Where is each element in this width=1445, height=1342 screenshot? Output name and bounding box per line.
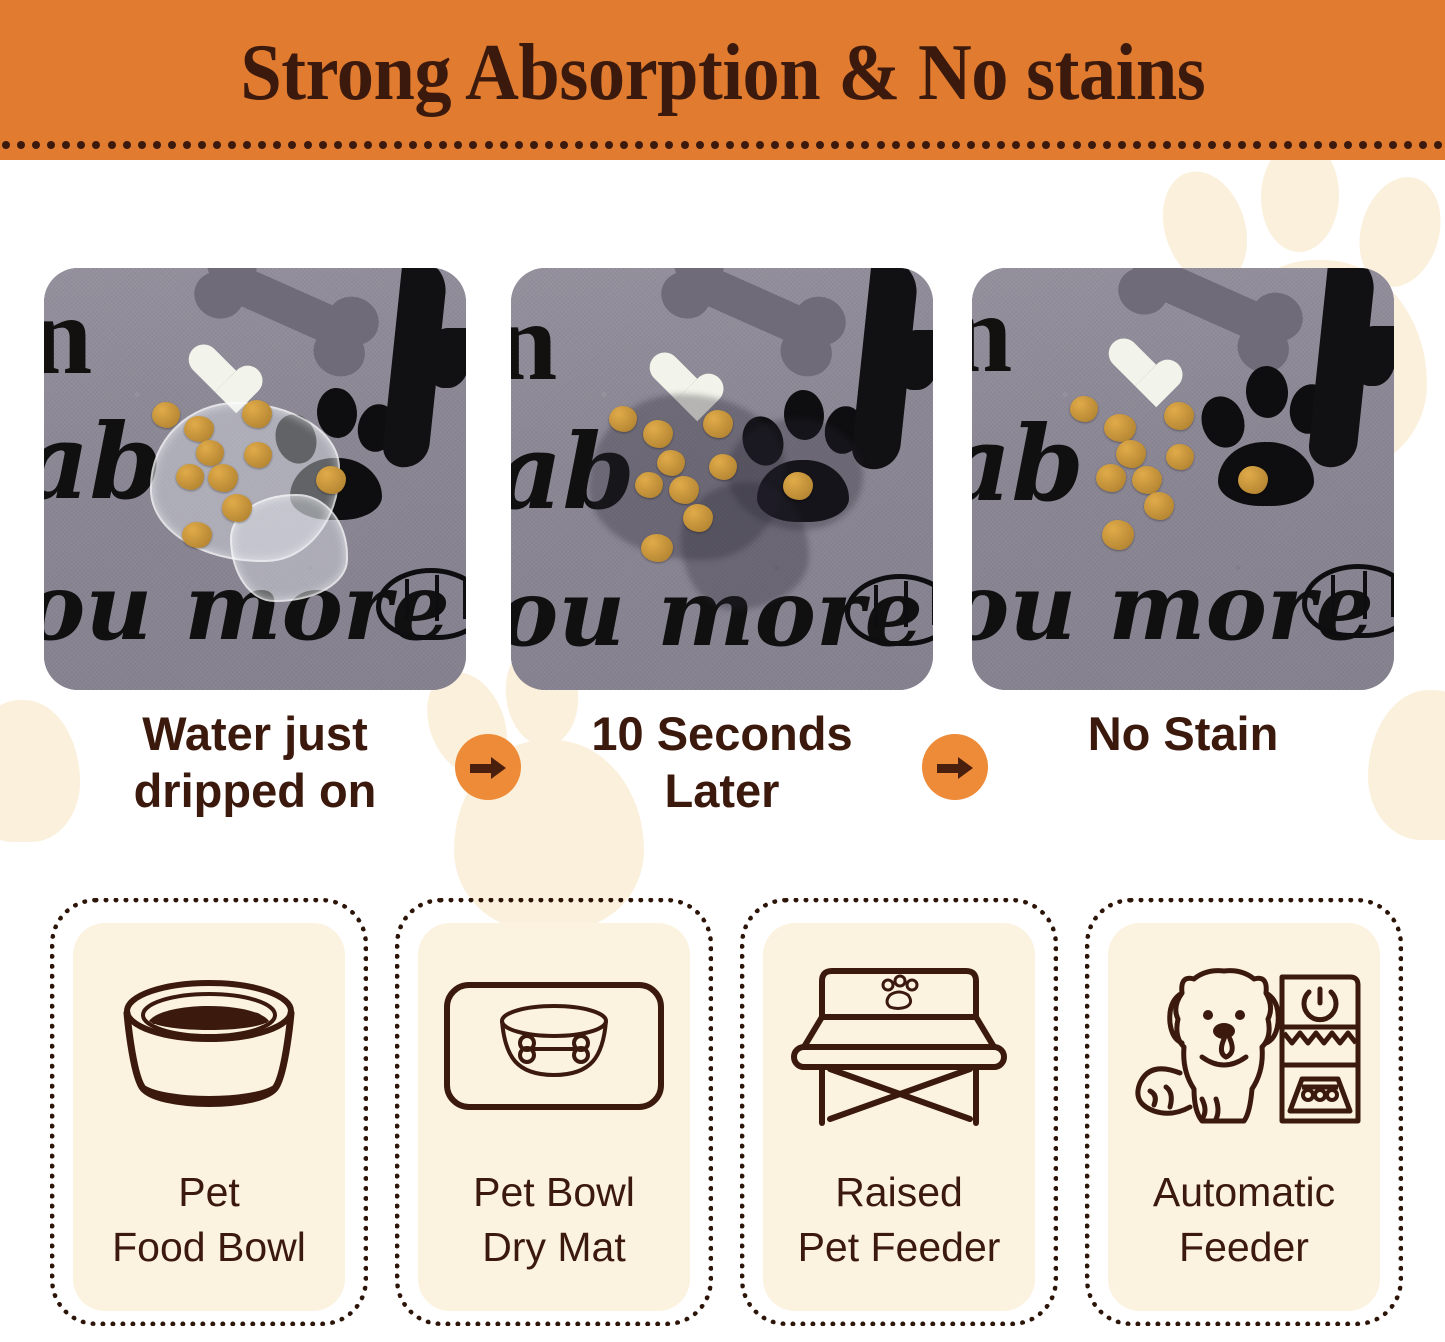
kibble-piece	[1070, 396, 1098, 422]
automatic-feeder-icon	[1108, 931, 1380, 1161]
card-label: Pet Food Bowl	[73, 1165, 345, 1276]
kibble-piece	[683, 504, 713, 532]
card-label: Pet Bowl Dry Mat	[418, 1165, 690, 1276]
kibble-piece	[242, 400, 272, 428]
card-label: Automatic Feeder	[1108, 1165, 1380, 1276]
heart-graphic	[1106, 340, 1164, 392]
kibble-piece	[184, 416, 214, 442]
kibble-piece	[635, 472, 663, 498]
kibble-piece	[703, 410, 733, 438]
caption-step-3: No Stain	[972, 705, 1394, 762]
header-banner: Strong Absorption & No stains	[0, 0, 1445, 160]
kibble-piece	[196, 440, 224, 466]
kibble-piece	[222, 494, 252, 522]
mat-letters-ab: ab	[44, 418, 162, 506]
card-label-line: Dry Mat	[418, 1220, 690, 1275]
card-label: Raised Pet Feeder	[763, 1165, 1035, 1276]
kibble-piece	[669, 476, 699, 504]
mat-letters-ab: ab	[972, 420, 1084, 508]
card-label-line: Pet	[73, 1165, 345, 1220]
use-case-card-automatic-feeder[interactable]: Automatic Feeder	[1085, 898, 1403, 1326]
raised-pet-feeder-icon	[763, 931, 1035, 1161]
kibble-piece	[208, 464, 238, 492]
caption-line: Water just	[44, 705, 466, 762]
pet-bowl-dry-mat-icon	[418, 931, 690, 1161]
use-case-card-raised-pet-feeder[interactable]: Raised Pet Feeder	[740, 898, 1058, 1326]
kibble-piece	[1164, 402, 1194, 430]
kibble-piece	[1102, 520, 1134, 550]
mat-letter-n: n	[972, 290, 1012, 380]
caption-line: 10 Seconds	[511, 705, 933, 762]
card-label-line: Feeder	[1108, 1220, 1380, 1275]
card-label-line: Pet Bowl	[418, 1165, 690, 1220]
kibble-piece	[609, 406, 637, 432]
kibble-piece	[1166, 444, 1194, 470]
kibble-piece	[316, 466, 346, 494]
kibble-piece	[1096, 464, 1126, 492]
kibble-piece	[1116, 440, 1146, 468]
card-label-line: Automatic	[1108, 1165, 1380, 1220]
kibble-piece	[176, 464, 204, 490]
header-dotted-divider	[0, 139, 1445, 151]
page-title: Strong Absorption & No stains	[240, 33, 1205, 127]
kibble-piece	[1132, 466, 1162, 494]
caption-step-2: 10 Seconds Later	[511, 705, 933, 820]
kibble-piece	[1144, 492, 1174, 520]
demo-photo-step-2: n ab ou more	[511, 268, 933, 690]
use-case-card-pet-food-bowl[interactable]: Pet Food Bowl	[50, 898, 368, 1326]
kibble-piece	[657, 450, 685, 476]
card-label-line: Food Bowl	[73, 1220, 345, 1275]
mat-letter-n: n	[511, 298, 557, 388]
heart-graphic	[186, 346, 244, 398]
kibble-piece	[1104, 414, 1136, 442]
kibble-piece	[783, 472, 813, 500]
demo-photo-step-1: n ab ou more	[44, 268, 466, 690]
demo-captions: Water just dripped on 10 Seconds Later N…	[0, 705, 1445, 835]
card-label-line: Raised	[763, 1165, 1035, 1220]
kibble-piece	[641, 534, 673, 562]
caption-line: No Stain	[972, 705, 1394, 762]
card-label-line: Pet Feeder	[763, 1220, 1035, 1275]
absorption-demo-row: n ab ou more	[0, 268, 1445, 690]
animal-silhouette-ear	[895, 330, 933, 390]
animal-silhouette-ear	[1352, 326, 1394, 386]
kibble-piece	[709, 454, 737, 480]
demo-photo-step-3: n ab ou more	[972, 268, 1394, 690]
caption-line: dripped on	[44, 762, 466, 819]
mat-letter-n: n	[44, 292, 92, 382]
caption-line: Later	[511, 762, 933, 819]
kibble-piece	[182, 522, 212, 548]
use-case-cards: Pet Food Bowl Pet Bowl	[0, 898, 1445, 1342]
use-case-card-pet-bowl-dry-mat[interactable]: Pet Bowl Dry Mat	[395, 898, 713, 1326]
kibble-piece	[643, 420, 673, 448]
kibble-piece	[1238, 466, 1268, 494]
pet-food-bowl-icon	[73, 931, 345, 1161]
animal-silhouette-ear	[426, 328, 466, 388]
caption-step-1: Water just dripped on	[44, 705, 466, 820]
kibble-piece	[152, 402, 180, 428]
kibble-piece	[244, 442, 272, 468]
